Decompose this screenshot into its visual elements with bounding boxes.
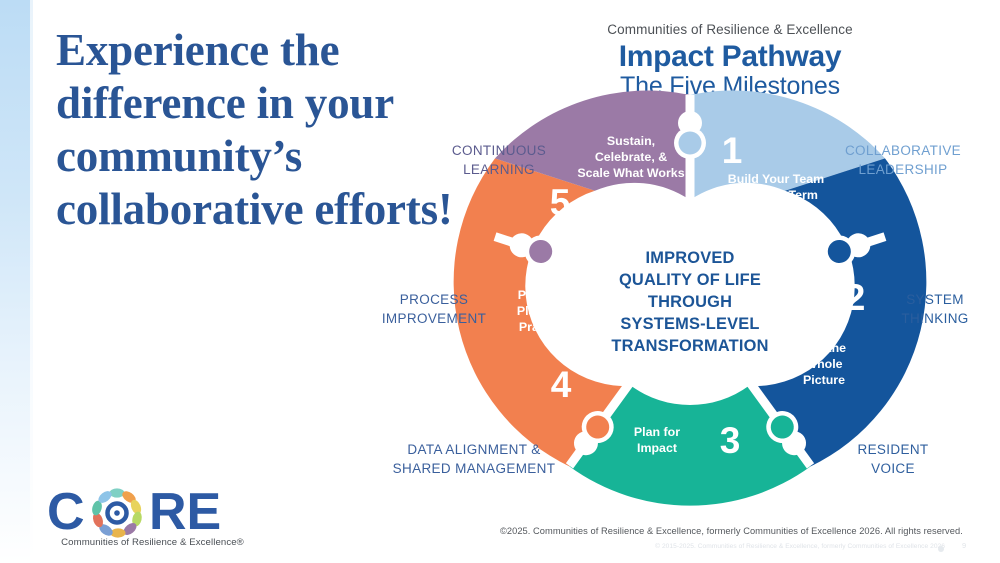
wheel-segment-4-number: 4 (551, 364, 572, 405)
outer-label-data-alignment: DATA ALIGNMENT & SHARED MANAGEMENT (378, 440, 570, 478)
svg-text:Whole: Whole (805, 357, 842, 371)
outer-label-process-improvement: PROCESS IMPROVEMENT (368, 290, 500, 328)
svg-text:See the: See the (802, 341, 846, 355)
svg-text:Plan Into: Plan Into (517, 304, 570, 318)
wheel-segment-2-label: See the Whole Picture (802, 341, 846, 387)
svg-text:Put Your: Put Your (518, 288, 569, 302)
wheel-segment-2-number: 2 (845, 277, 866, 318)
title-eyebrow: Communities of Resilience & Excellence (580, 22, 880, 39)
wheel-segment-1-number: 1 (722, 130, 743, 171)
svg-text:Impact: Impact (637, 441, 677, 455)
outer-label-resident-voice: RESIDENT VOICE (828, 440, 958, 478)
svg-text:Practice: Practice (519, 320, 567, 334)
footer-copyright-faint: © 2015-2025. Communities of Resilience &… (655, 543, 945, 550)
svg-text:Success: Success (751, 204, 801, 218)
core-logo-tagline: Communities of Resilience & Excellence® (45, 537, 260, 548)
svg-text:Picture: Picture (803, 373, 845, 387)
svg-text:SYSTEMS-LEVEL: SYSTEMS-LEVEL (620, 315, 759, 333)
outer-label-continuous-learning: CONTINUOUS LEARNING (418, 141, 580, 179)
infographic-title-block: Communities of Resilience & Excellence I… (580, 22, 880, 101)
footer-page-number: 9 (962, 541, 966, 550)
core-logo-letters-re: RE (149, 487, 221, 539)
footer-decorative-dot (938, 546, 944, 552)
wheel-segment-4-label: Put Your Plan Into Practice (517, 288, 570, 334)
svg-text:Build Your Team: Build Your Team (728, 172, 824, 186)
puzzle-tab-1 (679, 132, 702, 155)
svg-text:THROUGH: THROUGH (648, 293, 732, 311)
wheel-segment-1-label: Build Your Team for Long-Term Success (728, 172, 824, 218)
svg-text:for Long-Term: for Long-Term (734, 188, 818, 202)
svg-text:Scale What Works: Scale What Works (577, 166, 684, 180)
page-title: Experience the difference in your commun… (56, 24, 476, 236)
svg-text:Celebrate, &: Celebrate, & (595, 150, 667, 164)
svg-text:QUALITY OF LIFE: QUALITY OF LIFE (619, 271, 761, 289)
svg-text:IMPROVED: IMPROVED (645, 249, 734, 267)
svg-text:Sustain,: Sustain, (607, 134, 655, 148)
outer-label-collaborative-leadership: COLLABORATIVE LEADERSHIP (818, 141, 988, 179)
wheel-segment-5-number: 5 (550, 182, 571, 223)
outer-label-system-thinking: SYSTEM THINKING (876, 290, 994, 328)
core-logo: C RE Commun (45, 487, 260, 553)
slide-canvas: Experience the difference in your commun… (0, 0, 1000, 563)
left-accent-strip (0, 0, 30, 563)
footer-copyright: ©2025. Communities of Resilience & Excel… (500, 526, 970, 536)
wheel-segment-3-number: 3 (720, 420, 741, 461)
left-accent-strip-fade (30, 0, 33, 563)
svg-text:Plan for: Plan for (634, 425, 680, 439)
core-logo-letter-c: C (47, 487, 85, 539)
core-logo-ring-icon (91, 488, 144, 538)
title-main: Impact Pathway (580, 40, 880, 74)
svg-text:TRANSFORMATION: TRANSFORMATION (611, 337, 768, 355)
